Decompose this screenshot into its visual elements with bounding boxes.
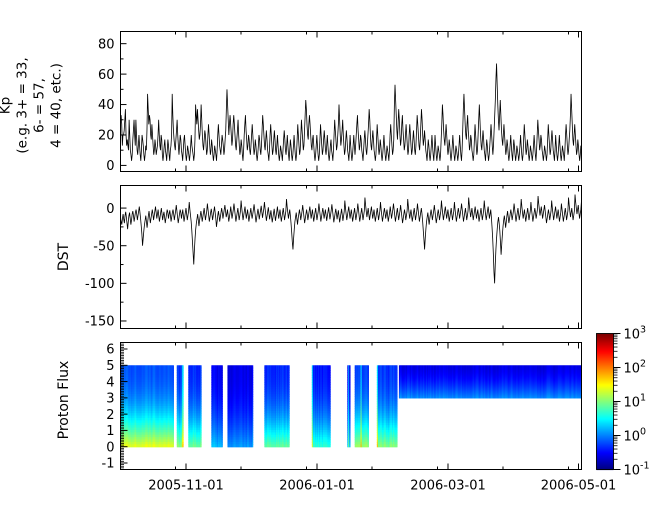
y-tick-label: 0 [106, 440, 114, 455]
dst-axis-label: DST [56, 242, 72, 271]
kp-axis-label-line: 4 = 40, etc.) [49, 63, 65, 148]
y-tick-label: 2 [106, 408, 114, 423]
y-tick-label: 4 [106, 375, 114, 390]
kp-axis-label-line: 6- = 57, [32, 78, 48, 133]
x-tick-label: 2005-11-01 [148, 479, 224, 494]
colorbar-tick-label: 102 [624, 359, 647, 377]
y-tick-label: 60 [98, 68, 115, 83]
plot-svg: 0204060800-50-100-150-101234562005-11-01… [0, 0, 665, 523]
y-tick-label: -100 [85, 277, 115, 292]
proton-flux-panel: -101234562005-11-012006-01-012006-03-012… [102, 343, 617, 494]
kp-series-line [121, 63, 582, 160]
x-tick-label: 2006-03-01 [410, 479, 486, 494]
y-tick-label: -1 [102, 457, 115, 472]
kp-axis-label: Kp(e.g. 3+ = 33,6- = 57,4 = 40, etc.) [0, 57, 65, 153]
colorbar: 10310210110010-1 [597, 325, 650, 479]
y-tick-label: 0 [106, 202, 114, 217]
dst-panel: 0-50-100-150 [85, 186, 582, 330]
y-tick-label: -50 [93, 239, 114, 254]
y-tick-label: 20 [98, 129, 115, 144]
dst-axis-label-line: DST [56, 242, 72, 271]
dst-series-line [121, 195, 582, 284]
colorbar-tick-label: 10-1 [624, 461, 650, 479]
x-tick-label: 2006-01-01 [279, 479, 355, 494]
proton-flux-axis-label-line: Proton Flux [56, 361, 72, 440]
y-tick-label: 3 [106, 392, 114, 407]
figure-container: 0204060800-50-100-150-101234562005-11-01… [0, 0, 665, 523]
colorbar-tick-label: 100 [624, 427, 647, 445]
proton-flux-axis-label: Proton Flux [56, 361, 72, 440]
y-tick-label: 40 [98, 98, 115, 113]
kp-panel: 020406080 [98, 32, 582, 175]
kp-axis-label-line: Kp [0, 97, 14, 114]
flux-heatmap [121, 365, 582, 447]
colorbar-tick-label: 101 [624, 393, 647, 411]
colorbar-tick-label: 103 [624, 325, 647, 343]
y-tick-label: 5 [106, 359, 114, 374]
x-tick-label: 2006-05-01 [541, 479, 617, 494]
kp-axis-label-line: (e.g. 3+ = 33, [15, 57, 31, 153]
y-tick-label: 1 [106, 424, 114, 439]
y-tick-label: -150 [85, 315, 115, 330]
y-tick-label: 0 [106, 159, 114, 174]
y-tick-label: 80 [98, 37, 115, 52]
y-tick-label: 6 [106, 343, 114, 358]
